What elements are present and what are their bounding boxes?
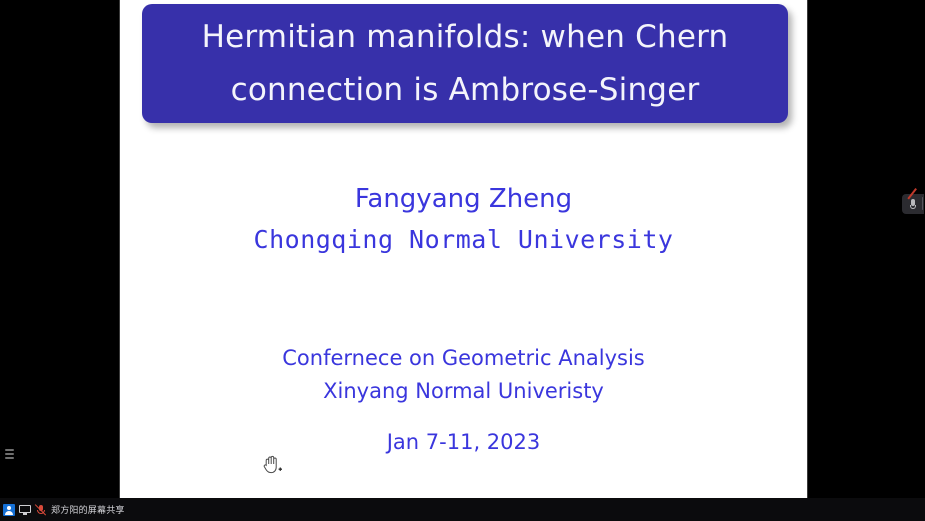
pill-drag-edge[interactable] — [922, 197, 924, 210]
shared-slide: Hermitian manifolds: when Chern connecti… — [120, 0, 807, 515]
list-icon[interactable] — [5, 449, 14, 459]
participants-icon[interactable] — [3, 504, 15, 516]
microphone-muted-icon[interactable] — [35, 504, 47, 516]
venue-block: Confernece on Geometric Analysis Xinyang… — [120, 342, 807, 408]
screen-share-status-chip[interactable]: 郑方阳的屏幕共享 — [0, 498, 125, 521]
taskbar: 郑方阳的屏幕共享 — [0, 498, 925, 521]
left-letterbox-rail — [0, 0, 120, 498]
screen-share-label: 郑方阳的屏幕共享 — [51, 503, 125, 516]
author-name: Fangyang Zheng — [120, 180, 807, 218]
microphone-glyph — [910, 199, 916, 210]
author-block: Fangyang Zheng Chongqing Normal Universi… — [120, 180, 807, 262]
slide-title-banner: Hermitian manifolds: when Chern connecti… — [142, 4, 788, 123]
venue-date: Jan 7-11, 2023 — [120, 430, 807, 454]
right-rail-divider — [807, 0, 808, 498]
slide-title-line-1: Hermitian manifolds: when Chern — [202, 11, 729, 64]
author-affiliation: Chongqing Normal University — [120, 218, 807, 262]
screen-share-icon[interactable] — [19, 504, 31, 516]
venue-conference: Confernece on Geometric Analysis — [120, 342, 807, 375]
right-letterbox-rail — [807, 0, 925, 498]
venue-institution: Xinyang Normal Univeristy — [120, 375, 807, 408]
meeting-screen: Hermitian manifolds: when Chern connecti… — [0, 0, 925, 521]
microphone-muted-icon[interactable] — [902, 194, 924, 214]
slide-title-line-2: connection is Ambrose-Singer — [231, 64, 700, 117]
